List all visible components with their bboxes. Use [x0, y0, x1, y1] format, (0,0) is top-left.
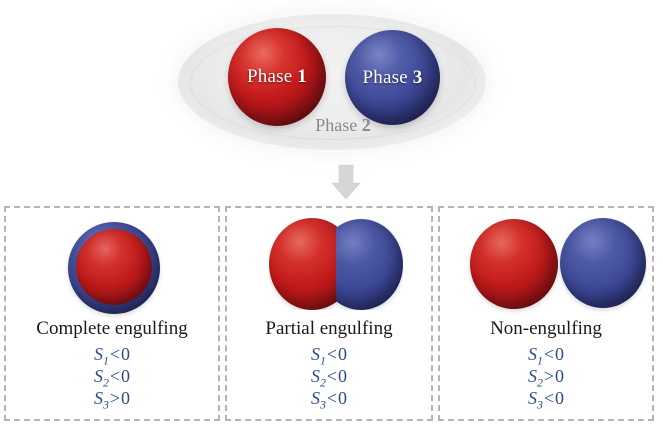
panel-non-engulfing: Non-engulfing S1<0 S2>0 S3<0: [438, 206, 654, 421]
criteria-symbol: S: [528, 388, 537, 408]
criteria-operator: <: [543, 344, 555, 364]
morphology-panel-row: Complete engulfing S1<0 S2<0 S3>0 Partia…: [4, 206, 659, 421]
phase-3-label-prefix: Phase: [363, 67, 408, 88]
criteria-row: S2<0: [6, 367, 218, 389]
criteria-value: 0: [338, 388, 347, 408]
panel-caption: Non-engulfing: [440, 318, 652, 340]
criteria-symbol: S: [528, 366, 537, 386]
criteria-symbol: S: [311, 388, 320, 408]
top-scene-composite-drop: Phase 1 Phase 3 Phase 2: [0, 0, 663, 200]
spreading-criteria-list: S1<0 S2<0 S3<0: [227, 345, 431, 410]
criteria-row: S3>0: [6, 389, 218, 411]
criteria-row: S1<0: [440, 345, 652, 367]
criteria-symbol: S: [94, 344, 103, 364]
criteria-value: 0: [555, 366, 564, 386]
criteria-operator: <: [109, 344, 121, 364]
criteria-subscript: 2: [537, 375, 543, 389]
phase-1-droplet: Phase 1: [228, 28, 326, 126]
partial-engulfing-doublet: [269, 218, 403, 313]
criteria-operator: <: [326, 344, 338, 364]
criteria-value: 0: [555, 344, 564, 364]
criteria-row: S1<0: [6, 345, 218, 367]
criteria-symbol: S: [94, 366, 103, 386]
criteria-row: S3<0: [227, 389, 431, 411]
criteria-subscript: 1: [320, 354, 326, 368]
criteria-symbol: S: [528, 344, 537, 364]
criteria-row: S2<0: [227, 367, 431, 389]
criteria-subscript: 3: [537, 397, 543, 411]
panel-caption: Partial engulfing: [227, 318, 431, 340]
criteria-row: S3<0: [440, 389, 652, 411]
partial-engulfing-figure: [227, 208, 431, 316]
criteria-value: 0: [555, 388, 564, 408]
criteria-operator: <: [326, 366, 338, 386]
criteria-operator: <: [326, 388, 338, 408]
phase-2-label-number: 2: [362, 115, 371, 135]
non-engulfing-red-sphere: [470, 219, 558, 309]
criteria-symbol: S: [311, 366, 320, 386]
spreading-criteria-list: S1<0 S2<0 S3>0: [6, 345, 218, 410]
phase-1-label-prefix: Phase: [247, 66, 292, 87]
criteria-operator: <: [543, 388, 555, 408]
criteria-value: 0: [338, 366, 347, 386]
engulfed-red-core: [76, 229, 152, 305]
spreading-criteria-list: S1<0 S2>0 S3<0: [440, 345, 652, 410]
phase-1-droplet-label: Phase 1: [228, 66, 326, 88]
phase-1-label-number: 1: [297, 66, 307, 87]
phase-3-label-number: 3: [413, 67, 423, 88]
criteria-value: 0: [338, 344, 347, 364]
criteria-value: 0: [121, 344, 130, 364]
phase-3-droplet: Phase 3: [345, 30, 440, 125]
criteria-operator: >: [109, 388, 121, 408]
criteria-subscript: 2: [103, 375, 109, 389]
criteria-operator: >: [543, 366, 555, 386]
criteria-subscript: 3: [103, 397, 109, 411]
criteria-row: S2>0: [440, 367, 652, 389]
criteria-value: 0: [121, 388, 130, 408]
panel-complete-engulfing: Complete engulfing S1<0 S2<0 S3>0: [4, 206, 220, 421]
criteria-value: 0: [121, 366, 130, 386]
criteria-subscript: 1: [537, 354, 543, 368]
criteria-subscript: 3: [320, 397, 326, 411]
non-engulfing-blue-sphere: [560, 218, 646, 308]
criteria-row: S1<0: [227, 345, 431, 367]
complete-engulfing-figure: [6, 208, 218, 316]
panel-partial-engulfing: Partial engulfing S1<0 S2<0 S3<0: [225, 206, 433, 421]
phase-2-label: Phase 2: [283, 115, 403, 136]
criteria-operator: <: [109, 366, 121, 386]
non-engulfing-figure: [440, 208, 652, 316]
criteria-symbol: S: [94, 388, 103, 408]
arrow-down-icon: [327, 163, 365, 201]
engulfing-blue-shell: [68, 222, 160, 314]
panel-caption: Complete engulfing: [6, 318, 218, 340]
criteria-subscript: 1: [103, 354, 109, 368]
phase-3-droplet-label: Phase 3: [345, 67, 440, 89]
criteria-symbol: S: [311, 344, 320, 364]
criteria-subscript: 2: [320, 375, 326, 389]
phase-2-label-prefix: Phase: [315, 115, 357, 135]
